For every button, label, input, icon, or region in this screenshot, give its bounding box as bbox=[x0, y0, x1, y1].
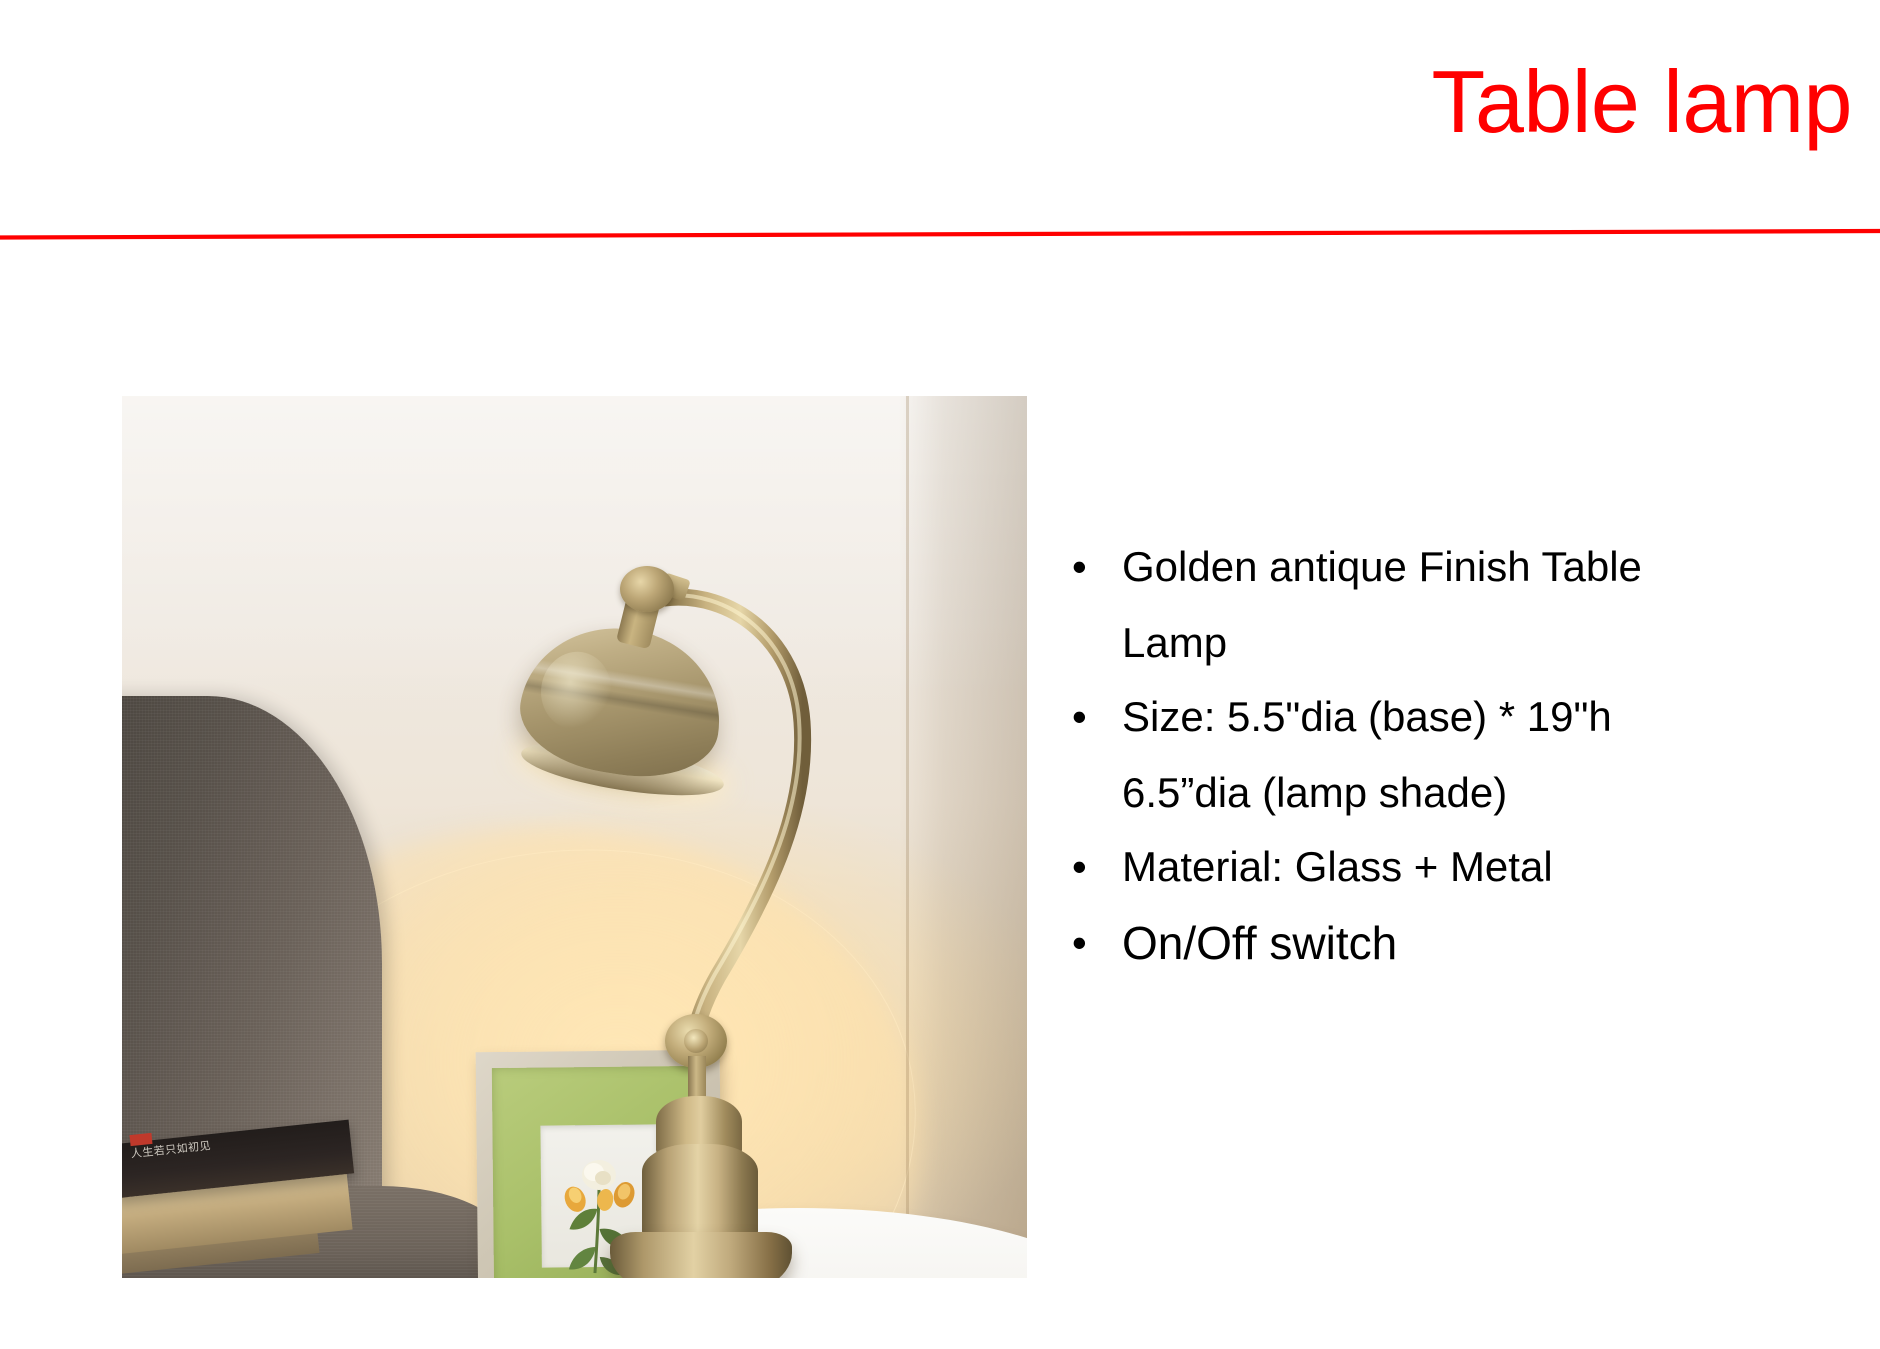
feature-list: • Golden antique Finish Table Lamp • Siz… bbox=[1060, 530, 1850, 982]
list-item-label: Material: Glass + Metal bbox=[1122, 830, 1850, 904]
bullet-icon: • bbox=[1060, 830, 1122, 904]
list-item: • On/Off switch bbox=[1060, 906, 1850, 980]
slide-canvas: Table lamp 人生若只如初见 bbox=[0, 0, 1880, 1349]
list-item-label: Golden antique Finish Table bbox=[1122, 530, 1850, 604]
lamp-top-joint bbox=[620, 566, 674, 612]
list-item-label: Size: 5.5"dia (base) * 19"h bbox=[1122, 680, 1850, 754]
wall-corner-shadow bbox=[899, 396, 1027, 1278]
product-photo: 人生若只如初见 bbox=[122, 396, 1027, 1278]
list-item: • Material: Glass + Metal bbox=[1060, 830, 1850, 904]
list-item: • Size: 5.5"dia (base) * 19"h bbox=[1060, 680, 1850, 754]
bullet-icon: • bbox=[1060, 906, 1122, 980]
bullet-icon: • bbox=[1060, 530, 1122, 604]
list-item: • Golden antique Finish Table bbox=[1060, 530, 1850, 604]
title-divider bbox=[0, 228, 1880, 240]
bullet-icon: • bbox=[1060, 680, 1122, 754]
list-item-continuation: Lamp bbox=[1060, 606, 1850, 680]
list-item-continuation: 6.5”dia (lamp shade) bbox=[1060, 756, 1850, 830]
product-photo-scene: 人生若只如初见 bbox=[122, 396, 1027, 1278]
page-title: Table lamp bbox=[0, 54, 1852, 149]
list-item-label: On/Off switch bbox=[1122, 906, 1850, 980]
lamp-power-cord bbox=[742, 1274, 982, 1278]
lamp-base-foot bbox=[610, 1232, 792, 1278]
book-publisher-mark bbox=[129, 1133, 152, 1146]
